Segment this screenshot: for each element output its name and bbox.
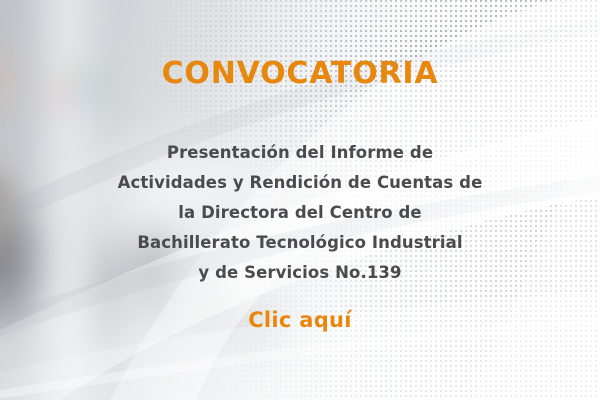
page-title: CONVOCATORIA bbox=[0, 58, 600, 90]
body-line-5: y de Servicios No.139 bbox=[0, 258, 600, 288]
body-line-3: la Directora del Centro de bbox=[0, 198, 600, 228]
cta-container: Clic aquí bbox=[0, 308, 600, 332]
body-line-1: Presentación del Informe de bbox=[0, 138, 600, 168]
body-line-2: Actividades y Rendición de Cuentas de bbox=[0, 168, 600, 198]
announcement-body: Presentación del Informe de Actividades … bbox=[0, 138, 600, 288]
clic-aqui-link[interactable]: Clic aquí bbox=[248, 308, 352, 332]
body-line-4: Bachillerato Tecnológico Industrial bbox=[0, 228, 600, 258]
convocatoria-banner: CONVOCATORIA Presentación del Informe de… bbox=[0, 0, 600, 400]
